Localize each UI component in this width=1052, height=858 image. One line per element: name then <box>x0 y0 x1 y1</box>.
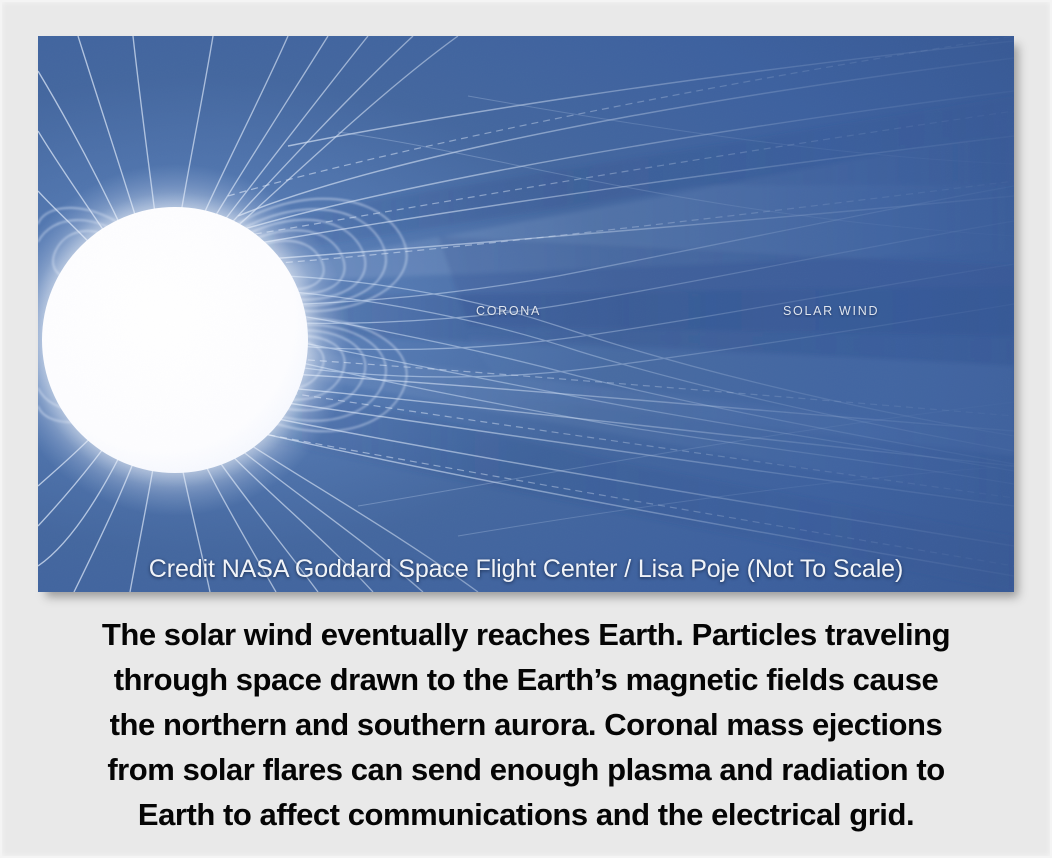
caption-line-5: Earth to affect communications and the e… <box>38 792 1014 837</box>
caption-line-3: the northern and southern aurora. Corona… <box>38 702 1014 747</box>
corona-label: CORONA <box>476 304 541 318</box>
caption-line-1: The solar wind eventually reaches Earth.… <box>38 612 1014 657</box>
caption-line-2: through space drawn to the Earth’s magne… <box>38 657 1014 702</box>
image-credit: Credit NASA Goddard Space Flight Center … <box>38 555 1014 584</box>
solar-wind-illustration: CORONA SOLAR WIND Credit NASA Goddard Sp… <box>38 36 1014 592</box>
solar-wind-label: SOLAR WIND <box>783 304 879 318</box>
caption-line-4: from solar flares can send enough plasma… <box>38 747 1014 792</box>
figure-caption: The solar wind eventually reaches Earth.… <box>38 612 1014 837</box>
